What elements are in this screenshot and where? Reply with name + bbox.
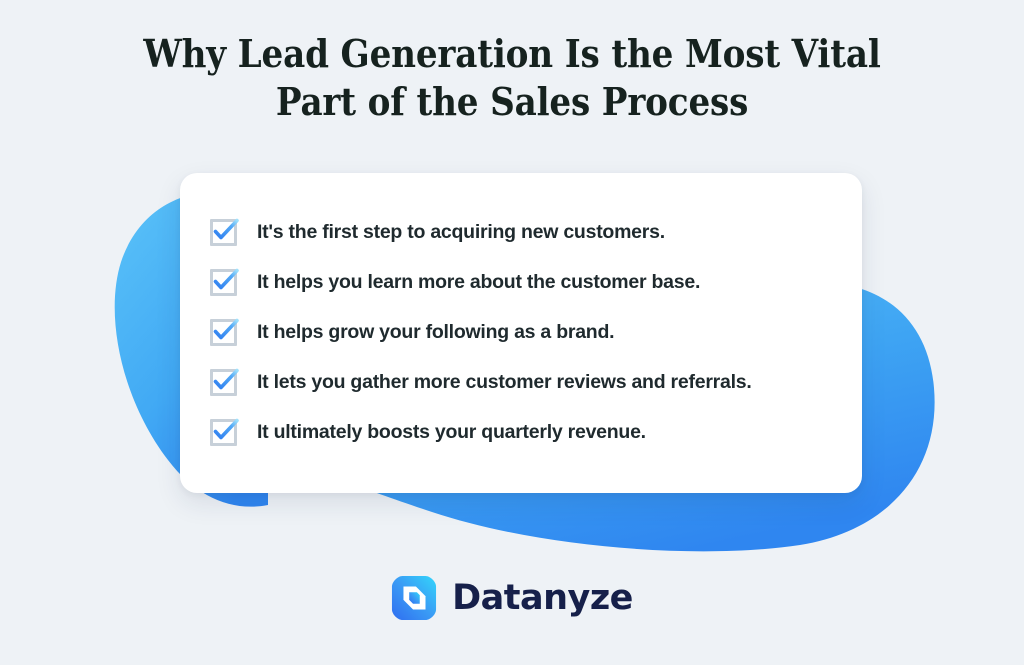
- brand-name: Datanyze: [452, 578, 633, 618]
- brand-logo: Datanyze: [0, 575, 1024, 621]
- checkbox-checked-icon[interactable]: [210, 419, 237, 446]
- infographic-canvas: Why Lead Generation Is the Most Vital Pa…: [0, 0, 1024, 665]
- checkbox-checked-icon[interactable]: [210, 369, 237, 396]
- page-title-line-2: Part of the Sales Process: [51, 78, 973, 126]
- list-item-label: It ultimately boosts your quarterly reve…: [257, 421, 646, 444]
- checkbox-checked-icon[interactable]: [210, 319, 237, 346]
- list-item: It ultimately boosts your quarterly reve…: [210, 407, 822, 457]
- list-item-label: It helps you learn more about the custom…: [257, 271, 700, 294]
- checkbox-checked-icon[interactable]: [210, 219, 237, 246]
- list-item: It helps you learn more about the custom…: [210, 257, 822, 307]
- benefits-card: It's the first step to acquiring new cus…: [180, 173, 862, 493]
- list-item-label: It lets you gather more customer reviews…: [257, 371, 752, 394]
- list-item-label: It's the first step to acquiring new cus…: [257, 221, 665, 244]
- page-title-line-1: Why Lead Generation Is the Most Vital: [51, 30, 973, 78]
- benefits-list: It's the first step to acquiring new cus…: [210, 207, 822, 457]
- page-title: Why Lead Generation Is the Most Vital Pa…: [0, 30, 1024, 127]
- list-item: It's the first step to acquiring new cus…: [210, 207, 822, 257]
- list-item: It helps grow your following as a brand.: [210, 307, 822, 357]
- checkbox-checked-icon[interactable]: [210, 269, 237, 296]
- list-item-label: It helps grow your following as a brand.: [257, 321, 614, 344]
- list-item: It lets you gather more customer reviews…: [210, 357, 822, 407]
- datanyze-logo-icon: [391, 575, 437, 621]
